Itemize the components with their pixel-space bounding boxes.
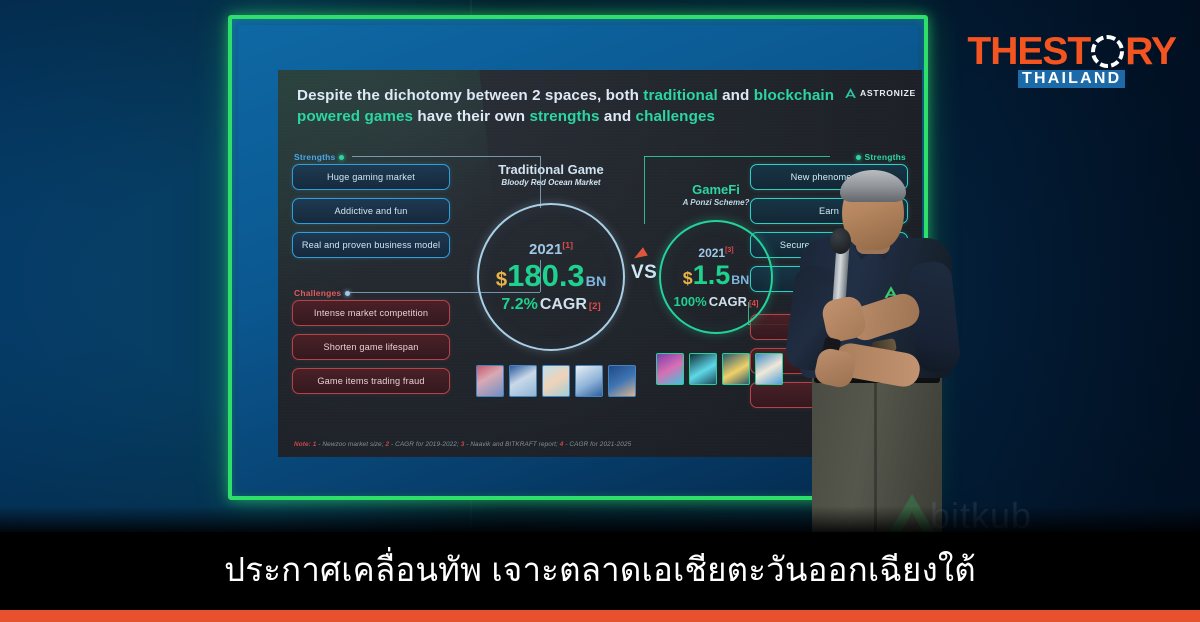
- traditional-cagr-label: CAGR: [540, 296, 587, 314]
- speaker-person: [760, 180, 1010, 540]
- footnote-text-4: - CAGR for 2021-2025: [563, 441, 631, 448]
- gamefi-cagr: 100%CAGR[4]: [673, 294, 758, 309]
- caption-shade: [0, 506, 1200, 534]
- microphone-head-icon: [830, 228, 851, 254]
- left-strength-pill-3[interactable]: Real and proven business model: [292, 232, 450, 258]
- connector-right-strengths-v: [644, 156, 645, 224]
- screenshot-root: Despite the dichotomy between 2 spaces, …: [0, 0, 1200, 622]
- bottom-accent-bar: [0, 610, 1200, 622]
- traditional-cagr-value: 7.2%: [501, 296, 537, 314]
- left-challenges-header: Challenges: [294, 288, 350, 298]
- logo-dashed-circle-icon: [1091, 35, 1124, 68]
- traditional-game-label: Traditional Game Bloody Red Ocean Market: [481, 162, 621, 187]
- traditional-unit: BN: [586, 275, 607, 289]
- gamefi-cagr-label: CAGR: [709, 294, 747, 309]
- left-strength-pill-1[interactable]: Huge gaming market: [292, 164, 450, 190]
- gamefi-subtitle: A Ponzi Scheme?: [656, 198, 776, 207]
- connector-left-strengths: [352, 156, 540, 157]
- game-thumbnail: [476, 365, 504, 397]
- bullet-dot-icon: [856, 155, 861, 160]
- footnote-text-2: - CAGR for 2019-2022;: [389, 441, 461, 448]
- traditional-value: 180.3: [507, 260, 585, 291]
- traditional-subtitle: Bloody Red Ocean Market: [481, 178, 621, 187]
- traditional-year-value: 2021: [529, 241, 562, 258]
- left-strengths-label: Strengths: [294, 152, 335, 162]
- game-thumbnail: [656, 353, 684, 385]
- headline-seg-1: Despite the dichotomy between 2 spaces, …: [297, 87, 643, 104]
- headline-seg-3: and: [718, 87, 754, 104]
- caption-bar: ประกาศเคลื่อนทัพ เจาะตลาดเอเชียตะวันออกเ…: [0, 532, 1200, 622]
- traditional-market-size: $180.3BN: [496, 260, 607, 291]
- headline-seg-6: have their own: [413, 108, 529, 125]
- footnote-text-1: - Newzoo market size;: [316, 441, 385, 448]
- left-challenge-pill-3[interactable]: Game items trading fraud: [292, 368, 450, 394]
- left-challenges-label: Challenges: [294, 288, 341, 298]
- gamefi-market-size: $1.5BN: [683, 262, 749, 289]
- slide-footnote: Note: 1 - Newzoo market size; 2 - CAGR f…: [294, 441, 631, 448]
- gamefi-year: 2021[3]: [698, 246, 733, 260]
- traditional-year-ref: [1]: [562, 240, 573, 250]
- footnote-text-3: - Naavik and BITKRAFT report;: [464, 441, 559, 448]
- game-thumbnail: [722, 353, 750, 385]
- caption-text: ประกาศเคลื่อนทัพ เจาะตลาดเอเชียตะวันออกเ…: [224, 553, 976, 586]
- logo-text-ry: RY: [1125, 34, 1176, 70]
- right-strengths-header: Strengths: [856, 152, 906, 162]
- gamefi-cagr-ref: [4]: [749, 299, 759, 308]
- bullet-dot-icon: [339, 155, 344, 160]
- game-thumbnail: [542, 365, 570, 397]
- versus-label: VS: [631, 262, 657, 284]
- gamefi-currency: $: [683, 270, 693, 288]
- logo-text-thest: THEST: [967, 34, 1090, 70]
- game-thumbnail: [608, 365, 636, 397]
- gamefi-year-value: 2021: [698, 246, 725, 260]
- traditional-cagr: 7.2%CAGR[2]: [501, 296, 600, 314]
- headline-keyword-challenges: challenges: [636, 108, 716, 125]
- traditional-currency: $: [496, 270, 507, 290]
- gamefi-year-ref: [3]: [725, 247, 734, 254]
- logo-wordmark: THEST RY: [967, 34, 1176, 70]
- bullet-dot-icon: [345, 291, 350, 296]
- slide-headline: Despite the dichotomy between 2 spaces, …: [297, 86, 857, 128]
- left-strengths-header: Strengths: [294, 152, 344, 162]
- gamefi-cagr-value: 100%: [673, 294, 706, 309]
- headline-seg-8: and: [600, 108, 636, 125]
- left-challenge-pill-1[interactable]: Intense market competition: [292, 300, 450, 326]
- traditional-game-circle: 2021[1] $180.3BN 7.2%CAGR[2]: [477, 203, 625, 351]
- traditional-cagr-ref: [2]: [589, 301, 601, 312]
- astronize-wordmark: ASTRONIZE: [860, 88, 916, 98]
- gamefi-label: GameFi A Ponzi Scheme?: [656, 182, 776, 207]
- headline-keyword-traditional: traditional: [643, 87, 718, 104]
- headline-keyword-strengths: strengths: [529, 108, 599, 125]
- traditional-title: Traditional Game: [481, 162, 621, 177]
- gamefi-title: GameFi: [656, 182, 776, 197]
- gamefi-circle: 2021[3] $1.5BN 100%CAGR[4]: [659, 220, 773, 334]
- logo-subtitle: THAILAND: [1018, 70, 1125, 88]
- headline-keyword-blockchain: blockchain: [754, 87, 834, 104]
- right-strengths-label: Strengths: [865, 152, 906, 162]
- gamefi-unit: BN: [731, 274, 749, 286]
- game-thumbnail: [509, 365, 537, 397]
- connector-right-strengths: [644, 156, 830, 157]
- astronize-triangle-icon: [844, 87, 857, 99]
- traditional-game-thumbnails: [476, 365, 636, 397]
- headline-keyword-powered-games: powered games: [297, 108, 413, 125]
- gamefi-value: 1.5: [693, 262, 731, 289]
- astronize-logo: ASTRONIZE: [844, 87, 916, 99]
- thestory-thailand-logo[interactable]: THEST RY THAILAND: [967, 34, 1176, 88]
- left-strength-pill-2[interactable]: Addictive and fun: [292, 198, 450, 224]
- game-thumbnail: [689, 353, 717, 385]
- footnote-prefix: Note:: [294, 441, 311, 448]
- game-thumbnail: [575, 365, 603, 397]
- traditional-year: 2021[1]: [529, 240, 573, 258]
- left-challenge-pill-2[interactable]: Shorten game lifespan: [292, 334, 450, 360]
